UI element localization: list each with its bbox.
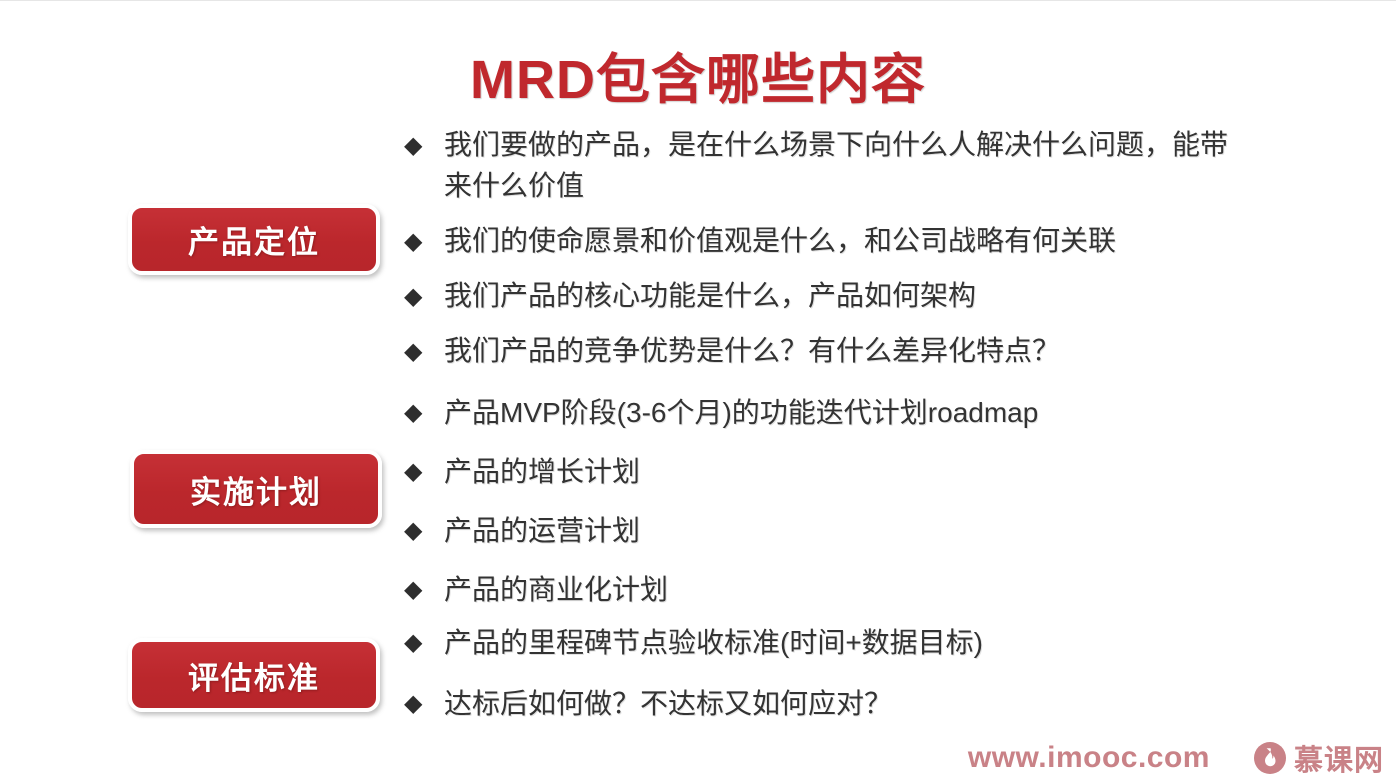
- bullet-group-product-positioning: ◆ 我们要做的产品，是在什么场景下向什么人解决什么问题，能带来什么价值 ◆ 我们…: [404, 125, 1304, 385]
- brand-lockup: 慕课网: [1254, 737, 1384, 779]
- list-item: ◆ 产品的里程碑节点验收标准(时间+数据目标): [404, 623, 1304, 664]
- diamond-bullet-icon: ◆: [404, 221, 444, 254]
- diamond-bullet-icon: ◆: [404, 452, 444, 484]
- list-item-text: 我们的使命愿景和价值观是什么，和公司战略有何关联: [444, 221, 1244, 262]
- diamond-bullet-icon: ◆: [404, 331, 444, 364]
- list-item-text: 产品的商业化计划: [444, 570, 1304, 611]
- list-item-text: 我们要做的产品，是在什么场景下向什么人解决什么问题，能带来什么价值: [444, 125, 1244, 207]
- diamond-bullet-icon: ◆: [404, 511, 444, 543]
- list-item: ◆ 我们产品的核心功能是什么，产品如何架构: [404, 276, 1304, 317]
- list-item-text: 产品MVP阶段(3-6个月)的功能迭代计划roadmap: [444, 393, 1304, 434]
- list-item-text: 产品的增长计划: [444, 452, 1304, 493]
- section-chip-evaluation-criteria[interactable]: 评估标准: [128, 638, 380, 712]
- list-item: ◆ 产品的商业化计划: [404, 570, 1304, 611]
- list-item: ◆ 达标后如何做？不达标又如何应对？: [404, 684, 1304, 725]
- section-chip-implementation-plan[interactable]: 实施计划: [130, 450, 382, 528]
- list-item-text: 达标后如何做？不达标又如何应对？: [444, 684, 1304, 725]
- diamond-bullet-icon: ◆: [404, 570, 444, 602]
- list-item-text: 产品的运营计划: [444, 511, 1304, 552]
- section-chip-label: 产品定位: [188, 217, 320, 262]
- list-item: ◆ 产品MVP阶段(3-6个月)的功能迭代计划roadmap: [404, 393, 1304, 434]
- bullet-group-implementation-plan: ◆ 产品MVP阶段(3-6个月)的功能迭代计划roadmap ◆ 产品的增长计划…: [404, 393, 1304, 629]
- list-item: ◆ 我们要做的产品，是在什么场景下向什么人解决什么问题，能带来什么价值: [404, 125, 1304, 207]
- diamond-bullet-icon: ◆: [404, 393, 444, 425]
- site-url: www.imooc.com: [968, 741, 1210, 775]
- list-item-text: 我们产品的核心功能是什么，产品如何架构: [444, 276, 1244, 317]
- list-item: ◆ 我们产品的竞争优势是什么？有什么差异化特点？: [404, 331, 1304, 372]
- slide-canvas: MRD包含哪些内容 产品定位 ◆ 我们要做的产品，是在什么场景下向什么人解决什么…: [0, 0, 1396, 781]
- section-chip-product-positioning[interactable]: 产品定位: [128, 204, 380, 275]
- brand-name: 慕课网: [1294, 737, 1384, 779]
- diamond-bullet-icon: ◆: [404, 684, 444, 716]
- list-item: ◆ 产品的运营计划: [404, 511, 1304, 552]
- diamond-bullet-icon: ◆: [404, 276, 444, 309]
- diamond-bullet-icon: ◆: [404, 125, 444, 158]
- section-chip-label: 实施计划: [190, 467, 322, 512]
- list-item: ◆ 我们的使命愿景和价值观是什么，和公司战略有何关联: [404, 221, 1304, 262]
- footer-watermark: www.imooc.com 慕课网: [968, 737, 1384, 779]
- diamond-bullet-icon: ◆: [404, 623, 444, 655]
- bullet-group-evaluation-criteria: ◆ 产品的里程碑节点验收标准(时间+数据目标) ◆ 达标后如何做？不达标又如何应…: [404, 623, 1304, 745]
- list-item-text: 产品的里程碑节点验收标准(时间+数据目标): [444, 623, 1304, 664]
- page-title: MRD包含哪些内容: [0, 35, 1396, 114]
- section-chip-label: 评估标准: [188, 653, 320, 698]
- flame-icon: [1254, 742, 1286, 774]
- list-item-text: 我们产品的竞争优势是什么？有什么差异化特点？: [444, 331, 1244, 372]
- list-item: ◆ 产品的增长计划: [404, 452, 1304, 493]
